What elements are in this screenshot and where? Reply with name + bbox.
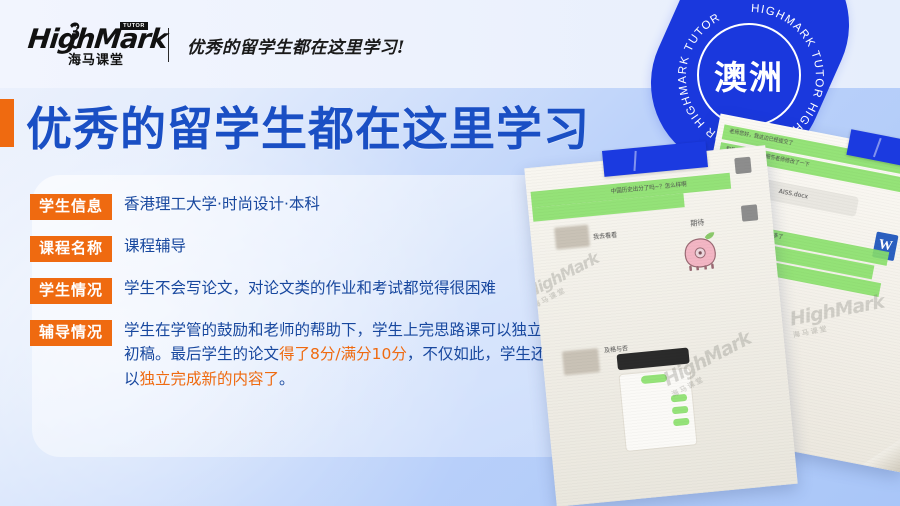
chat-card — [618, 367, 697, 452]
redacted-block — [562, 348, 600, 375]
doc-left-list-title: 及格与否 — [604, 343, 629, 354]
paper-watermark: HighMark 海马课堂 — [524, 248, 606, 310]
chat-dark-bubble — [617, 347, 690, 370]
sticker-caption: 期待 — [690, 217, 705, 228]
row-label-course-name: 课程名称 — [30, 236, 112, 262]
doc-left-chat-reply: 我去看看 — [593, 230, 618, 241]
chat-pill — [672, 406, 689, 415]
page-curl — [862, 426, 900, 473]
tutoring-highlight-score: 得了8分/满分10分 — [279, 345, 407, 363]
mascot-sticker-icon — [676, 222, 724, 272]
logo-divider — [168, 28, 169, 62]
banner-root: HighMark TUTOR 海马课堂 优秀的留学生都在这里学习! HIGHMA… — [0, 0, 900, 506]
watermark-sub: 海马课堂 — [670, 347, 759, 400]
highlight-stripe — [532, 193, 685, 222]
row-value-tutoring-result: 学生在学管的鼓励和老师的帮助下，学生上完思路课可以独立完成初稿。最后学生的论文得… — [124, 318, 576, 391]
row-value-course-name: 课程辅导 — [124, 234, 186, 258]
document-collage: 老师您好，我这边已经提交了 和教授再确认下，细节老师修改了一下 AISS.doc… — [530, 138, 900, 506]
word-file-icon: W — [872, 231, 899, 261]
watermark-text: HighMark — [660, 327, 755, 391]
paper-watermark: HighMark 海马课堂 — [660, 327, 759, 399]
row-label-student-info: 学生信息 — [30, 194, 112, 220]
logo-chinese-name: 海马课堂 — [68, 49, 124, 68]
doc-right-file-name: AISS.docx — [778, 188, 809, 201]
badge-country-label: 澳洲 — [697, 23, 801, 127]
redacted-block — [554, 225, 590, 250]
doc-left-chat-line: 中国历史出分了吗~？怎么样啊 — [610, 180, 687, 195]
chat-avatar — [741, 204, 758, 221]
chat-pill — [671, 394, 688, 403]
title-accent-bar — [0, 99, 14, 147]
row-value-student-info: 香港理工大学·时尚设计·本科 — [124, 192, 320, 216]
watermark-text: HighMark — [788, 291, 886, 331]
watermark-sub: 海马课堂 — [792, 312, 887, 340]
brand-tagline: 优秀的留学生都在这里学习! — [187, 33, 405, 58]
logo-tutor-badge: TUTOR — [120, 22, 148, 30]
paper-watermark: HighMark 海马课堂 — [788, 291, 888, 341]
watermark-text: HighMark — [524, 248, 601, 301]
row-label-student-situation: 学生情况 — [30, 278, 112, 304]
doc-right-chat-line1: 老师您好，我这边已经提交了 — [729, 128, 794, 147]
page-title: 优秀的留学生都在这里学习 — [26, 93, 590, 159]
row-label-tutoring-result: 辅导情况 — [30, 320, 112, 346]
chat-pill — [641, 374, 668, 384]
row-value-student-situation: 学生不会写论文，对论文类的作业和考试都觉得很困难 — [124, 276, 496, 300]
chat-pill — [673, 418, 690, 427]
document-sheet-left: 中国历史出分了吗~？怎么样啊 我去看看 期待 及格与否 HighMa — [524, 145, 797, 506]
logo-mark: HighMark TUTOR 海马课堂 — [28, 22, 146, 68]
tutoring-text-part3: 。 — [279, 370, 295, 388]
watermark-sub: 海马课堂 — [532, 265, 607, 310]
brand-logo[interactable]: HighMark TUTOR 海马课堂 优秀的留学生都在这里学习! — [28, 22, 405, 68]
chat-avatar — [734, 157, 751, 174]
highlight-stripe — [531, 173, 732, 208]
tutoring-highlight-independent: 独立完成新的内容了 — [140, 370, 280, 388]
